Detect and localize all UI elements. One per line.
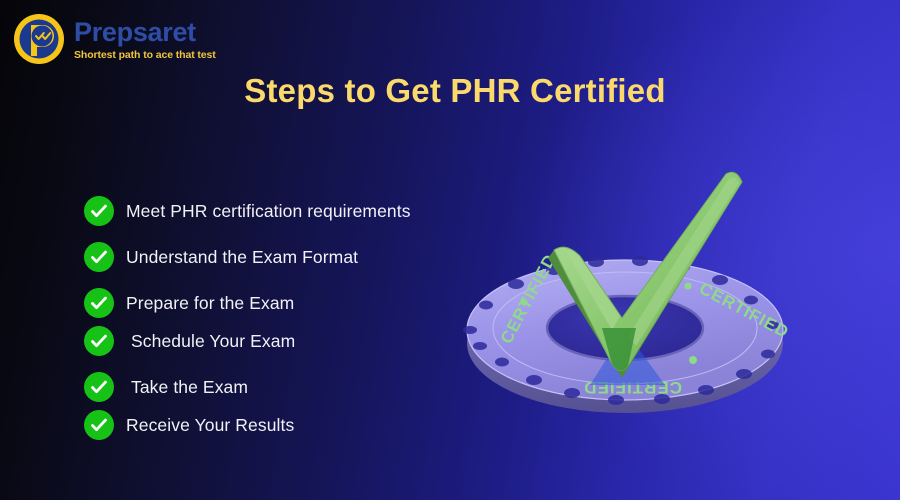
check-circle-icon <box>84 410 114 440</box>
list-item-label: Meet PHR certification requirements <box>126 201 411 222</box>
certified-gear-checkmark-icon: CERTIFIED CERTIFIED CERTIFIED <box>450 170 800 440</box>
check-circle-icon <box>84 242 114 272</box>
list-item: Prepare for the Exam <box>84 288 494 318</box>
list-item: Meet PHR certification requirements <box>84 196 494 226</box>
brand-tagline: Shortest path to ace that test <box>74 50 216 61</box>
page-title: Steps to Get PHR Certified <box>0 72 900 110</box>
list-item: Understand the Exam Format <box>84 242 494 272</box>
prepsaret-p-check-logo-icon <box>12 12 66 66</box>
check-circle-icon <box>84 196 114 226</box>
list-item-label: Prepare for the Exam <box>126 293 294 314</box>
check-circle-icon <box>84 326 114 356</box>
list-item-label: Receive Your Results <box>126 415 294 436</box>
brand-name: Prepsaret <box>74 19 216 46</box>
list-item-label: Understand the Exam Format <box>126 247 358 268</box>
list-item-label: Take the Exam <box>126 377 248 398</box>
brand-logo[interactable]: Prepsaret Shortest path to ace that test <box>12 12 216 66</box>
list-item: Take the Exam <box>84 372 494 402</box>
slide-canvas: Prepsaret Shortest path to ace that test… <box>0 0 900 500</box>
brand-wordmark: Prepsaret Shortest path to ace that test <box>74 17 216 61</box>
check-circle-icon <box>84 372 114 402</box>
list-item: Receive Your Results <box>84 410 494 440</box>
list-item-label: Schedule Your Exam <box>126 331 295 352</box>
check-circle-icon <box>84 288 114 318</box>
list-item: Schedule Your Exam <box>84 326 494 356</box>
steps-checklist: Meet PHR certification requirements Unde… <box>84 196 494 440</box>
